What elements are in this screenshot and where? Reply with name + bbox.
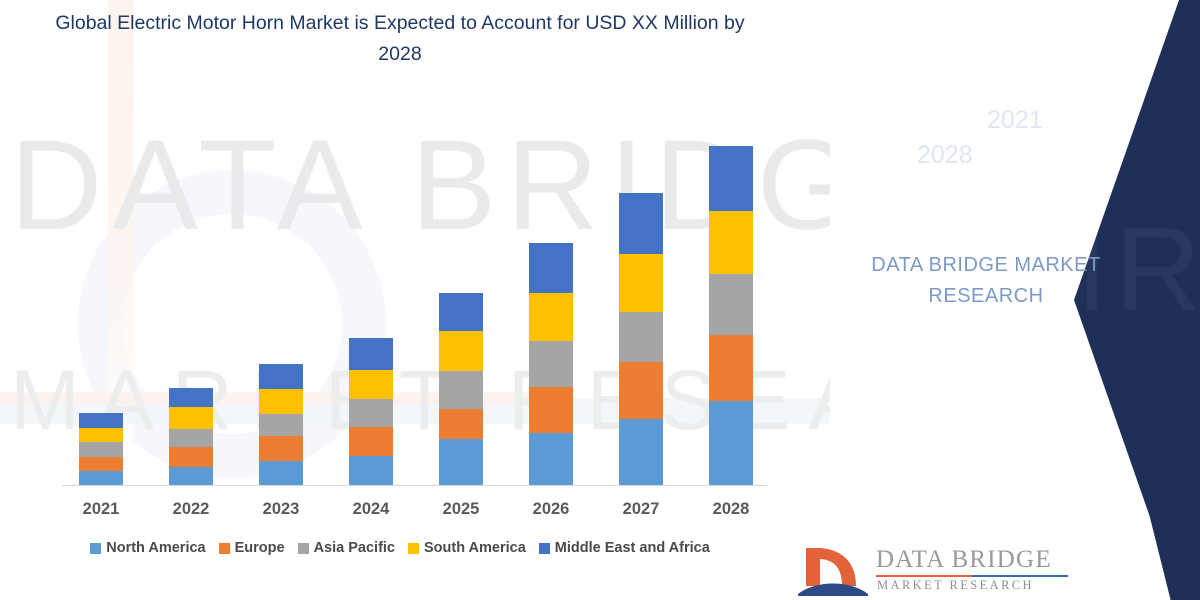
bar-segment: [79, 471, 123, 485]
x-label-2021: 2021: [56, 500, 146, 519]
hexagon-2021-label: 2021: [987, 106, 1043, 134]
legend-swatch-icon: [408, 543, 419, 554]
bar-segment: [169, 388, 213, 407]
hexagon-group: 2028 2021: [846, 95, 1136, 220]
bar-segment: [169, 467, 213, 485]
bar-2023: [259, 364, 303, 485]
legend-item-2[interactable]: Asia Pacific: [298, 540, 395, 556]
bar-segment: [529, 293, 573, 342]
bar-segment: [619, 312, 663, 362]
bar-segment: [709, 274, 753, 335]
bar-segment: [169, 447, 213, 466]
legend-label: South America: [424, 540, 526, 556]
bar-segment: [439, 293, 483, 332]
bar-segment: [619, 362, 663, 419]
x-label-2022: 2022: [146, 500, 236, 519]
bar-segment: [439, 409, 483, 439]
bar-segment: [349, 370, 393, 399]
bar-2024: [349, 338, 393, 485]
bar-segment: [709, 401, 753, 485]
bar-segment: [349, 338, 393, 370]
logo-tagline: MARKET RESEARCH: [877, 578, 1034, 593]
bar-segment: [259, 364, 303, 389]
brand-panel: DBMR Global Electric Motor Horn Market, …: [780, 0, 1200, 600]
bar-segment: [529, 433, 573, 485]
bar-segment: [529, 341, 573, 387]
brand-subtitle: DATA BRIDGE MARKET RESEARCH: [826, 250, 1146, 312]
company-logo: DATA BRIDGE MARKET RESEARCH: [798, 540, 1098, 600]
legend-item-1[interactable]: Europe: [219, 540, 285, 556]
bar-segment: [349, 427, 393, 456]
bar-segment: [709, 211, 753, 274]
bar-2021: [79, 413, 123, 485]
x-label-2023: 2023: [236, 500, 326, 519]
bar-segment: [349, 399, 393, 426]
bar-segment: [619, 419, 663, 485]
bar-segment: [439, 331, 483, 371]
bar-segment: [619, 193, 663, 253]
bar-segment: [169, 407, 213, 428]
x-label-2026: 2026: [506, 500, 596, 519]
x-axis-line: [62, 485, 767, 486]
logo-wordmark: DATA BRIDGE: [876, 546, 1052, 574]
legend-label: Europe: [235, 540, 285, 556]
legend-label: North America: [106, 540, 205, 556]
chart-infographic: DATA BRIDGE MARKET RESEARCH Global Elect…: [0, 0, 1200, 600]
bar-segment: [709, 146, 753, 211]
panel-title: Global Electric Motor Horn Market, By Re…: [834, 0, 1134, 44]
bar-segment: [529, 243, 573, 293]
logo-rule-blue: [972, 575, 1068, 577]
x-label-2028: 2028: [686, 500, 776, 519]
x-label-2024: 2024: [326, 500, 416, 519]
hexagon-2028-label: 2028: [917, 141, 973, 169]
plot-area: 20212022202320242025202620272028: [0, 0, 800, 530]
bar-segment: [439, 371, 483, 409]
bar-segment: [79, 413, 123, 428]
legend-label: Middle East and Africa: [555, 540, 710, 556]
bar-2026: [529, 243, 573, 485]
bar-segment: [619, 254, 663, 312]
bar-2027: [619, 193, 663, 485]
bar-segment: [79, 428, 123, 443]
bar-segment: [169, 429, 213, 447]
chart-legend: North AmericaEuropeAsia PacificSouth Ame…: [0, 540, 800, 556]
legend-swatch-icon: [219, 543, 230, 554]
bar-segment: [259, 436, 303, 460]
legend-label: Asia Pacific: [314, 540, 395, 556]
x-label-2025: 2025: [416, 500, 506, 519]
brand-subtitle-line-1: DATA BRIDGE MARKET: [826, 250, 1146, 281]
bar-segment: [79, 457, 123, 472]
bar-segment: [439, 439, 483, 485]
bar-segment: [259, 461, 303, 485]
bar-segment: [259, 389, 303, 414]
bar-segment: [349, 456, 393, 485]
legend-swatch-icon: [298, 543, 309, 554]
bridge-logo-icon: [798, 540, 868, 596]
bar-segment: [259, 414, 303, 436]
bar-segment: [709, 335, 753, 401]
bar-2028: [709, 146, 753, 485]
logo-rule-orange: [876, 575, 972, 577]
legend-item-4[interactable]: Middle East and Africa: [539, 540, 710, 556]
bar-2025: [439, 293, 483, 485]
hexagon-svg: 2028 2021: [846, 95, 1136, 220]
brand-subtitle-line-2: RESEARCH: [826, 281, 1146, 312]
bar-2022: [169, 388, 213, 485]
x-label-2027: 2027: [596, 500, 686, 519]
bar-segment: [529, 387, 573, 434]
legend-swatch-icon: [539, 543, 550, 554]
bars-layer: [0, 0, 800, 485]
bar-segment: [79, 442, 123, 457]
legend-item-3[interactable]: South America: [408, 540, 526, 556]
legend-item-0[interactable]: North America: [90, 540, 205, 556]
legend-swatch-icon: [90, 543, 101, 554]
